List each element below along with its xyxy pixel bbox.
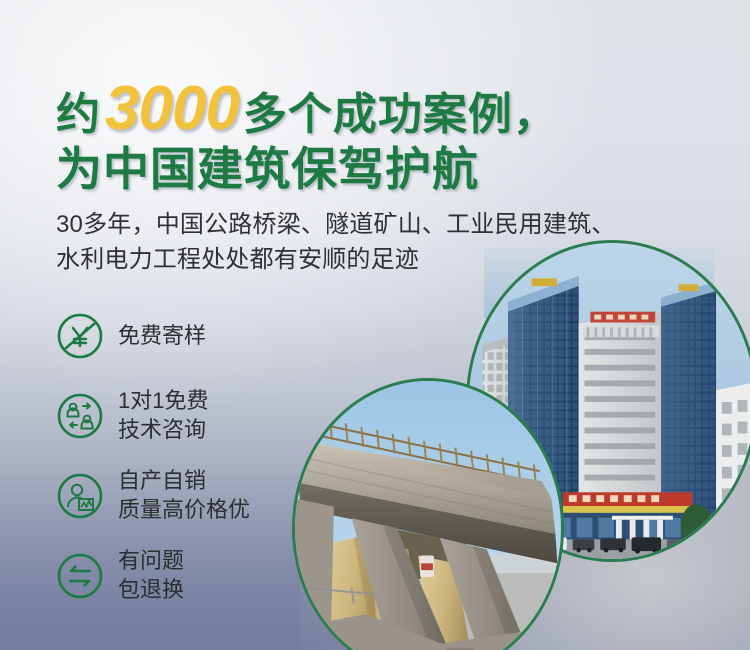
feature-label-line: 技术咨询: [118, 416, 208, 445]
headline-line-1: 约3000多个成功案例，: [56, 78, 558, 140]
self-produce-quality-icon: [56, 472, 104, 520]
feature-label-line: 包退换: [118, 576, 184, 605]
headline: 约3000多个成功案例， 为中国建筑保驾护航: [56, 78, 558, 192]
feature-item-consultation[interactable]: 1对1免费 技术咨询: [56, 376, 356, 456]
feature-label-line: 自产自销: [118, 467, 250, 496]
feature-label-line: 1对1免费: [118, 387, 208, 416]
feature-item-free-sample[interactable]: 免费寄样: [56, 296, 356, 376]
feature-item-return-exchange[interactable]: 有问题 包退换: [56, 536, 356, 616]
exchange-return-icon: [56, 552, 104, 600]
feature-label-line: 质量高价格优: [118, 496, 250, 525]
feature-list: 免费寄样: [56, 296, 356, 616]
feature-label-return-exchange: 有问题 包退换: [118, 547, 184, 604]
promo-banner: 约3000多个成功案例， 为中国建筑保驾护航 30多年，中国公路桥梁、隧道矿山、…: [0, 0, 750, 650]
one-to-one-consult-icon: [56, 392, 104, 440]
headline-suffix: 多个成功案例，: [243, 90, 558, 139]
subtitle-line-1: 30多年，中国公路桥梁、隧道矿山、工业民用建筑、: [56, 208, 616, 243]
headline-line-2: 为中国建筑保驾护航: [56, 146, 558, 192]
headline-number: 3000: [101, 74, 243, 143]
feature-label-line: 有问题: [118, 547, 184, 576]
feature-label-free-sample: 免费寄样: [118, 322, 206, 351]
feature-item-self-production[interactable]: 自产自销 质量高价格优: [56, 456, 356, 536]
subtitle-line-2: 水利电力工程处处都有安顺的足迹: [56, 243, 616, 278]
no-fee-yuan-icon: [56, 312, 104, 360]
feature-label-self-production: 自产自销 质量高价格优: [118, 467, 250, 524]
feature-label-consultation: 1对1免费 技术咨询: [118, 387, 208, 444]
headline-prefix: 约: [56, 90, 101, 139]
feature-label-line: 免费寄样: [118, 322, 206, 351]
subtitle: 30多年，中国公路桥梁、隧道矿山、工业民用建筑、 水利电力工程处处都有安顺的足迹: [56, 208, 616, 278]
